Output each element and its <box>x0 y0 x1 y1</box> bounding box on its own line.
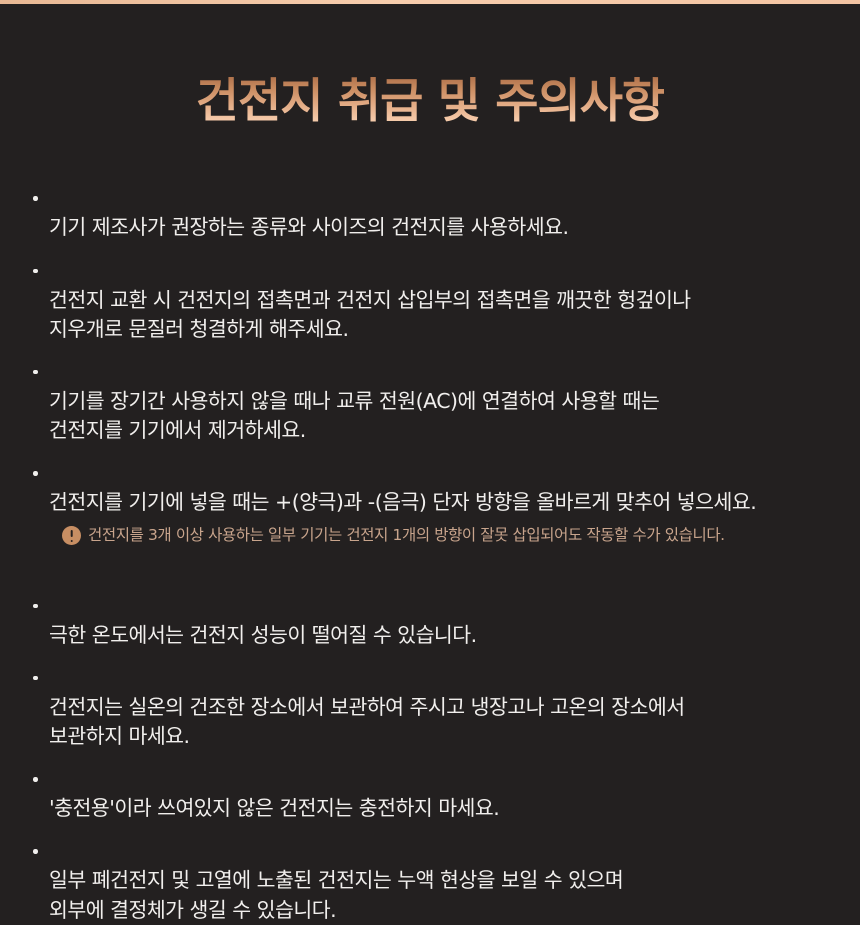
list-item: 건전지는 실온의 건조한 장소에서 보관하여 주시고 냉장고나 고온의 장소에서… <box>32 664 836 751</box>
list-item-text: 건전지는 실온의 건조한 장소에서 보관하여 주시고 냉장고나 고온의 장소에서… <box>49 695 685 748</box>
list-item: 건전지 교환 시 건전지의 접촉면과 건전지 삽입부의 접촉면을 깨끗한 헝겊이… <box>32 257 836 344</box>
list-item-text: 기기를 장기간 사용하지 않을 때나 교류 전원(AC)에 연결하여 사용할 때… <box>49 389 659 442</box>
page-title: 건전지 취급 및 주의사항 <box>196 77 665 126</box>
list-item-text: 극한 온도에서는 건전지 성능이 떨어질 수 있습니다. <box>49 623 477 647</box>
list-item: 기기를 장기간 사용하지 않을 때나 교류 전원(AC)에 연결하여 사용할 때… <box>32 358 836 445</box>
list-item-text: '충전용'이라 쓰여있지 않은 건전지는 충전하지 마세요. <box>49 796 499 820</box>
list-item-text: 건전지를 기기에 넣을 때는 +(양극)과 -(음극) 단자 방향을 올바르게 … <box>49 490 756 514</box>
exclamation-circle-icon <box>62 526 81 545</box>
page-title-container: 건전지 취급 및 주의사항 <box>0 4 860 158</box>
list-item-text: 건전지 교환 시 건전지의 접촉면과 건전지 삽입부의 접촉면을 깨끗한 헝겊이… <box>49 288 691 341</box>
list-item: 극한 온도에서는 건전지 성능이 떨어질 수 있습니다. <box>32 592 836 650</box>
list-item-text: 일부 폐건전지 및 고열에 노출된 건전지는 누액 현상을 보일 수 있으며 외… <box>49 868 623 921</box>
precaution-list: 기기 제조사가 권장하는 종류와 사이즈의 건전지를 사용하세요. 건전지 교환… <box>0 184 860 924</box>
list-item: 일부 폐건전지 및 고열에 노출된 건전지는 누액 현상을 보일 수 있으며 외… <box>32 837 836 924</box>
battery-precautions-panel: 건전지 취급 및 주의사항 기기 제조사가 권장하는 종류와 사이즈의 건전지를… <box>0 4 860 660</box>
list-item: '충전용'이라 쓰여있지 않은 건전지는 충전하지 마세요. <box>32 765 836 823</box>
list-item-text: 기기 제조사가 권장하는 종류와 사이즈의 건전지를 사용하세요. <box>49 215 568 239</box>
list-item: 건전지를 기기에 넣을 때는 +(양극)과 -(음극) 단자 방향을 올바르게 … <box>32 459 836 577</box>
polarity-warning-note: 건전지를 3개 이상 사용하는 일부 기기는 건전지 1개의 방향이 잘못 삽입… <box>49 524 836 546</box>
list-item: 기기 제조사가 권장하는 종류와 사이즈의 건전지를 사용하세요. <box>32 184 836 242</box>
polarity-warning-text: 건전지를 3개 이상 사용하는 일부 기기는 건전지 1개의 방향이 잘못 삽입… <box>88 524 725 546</box>
